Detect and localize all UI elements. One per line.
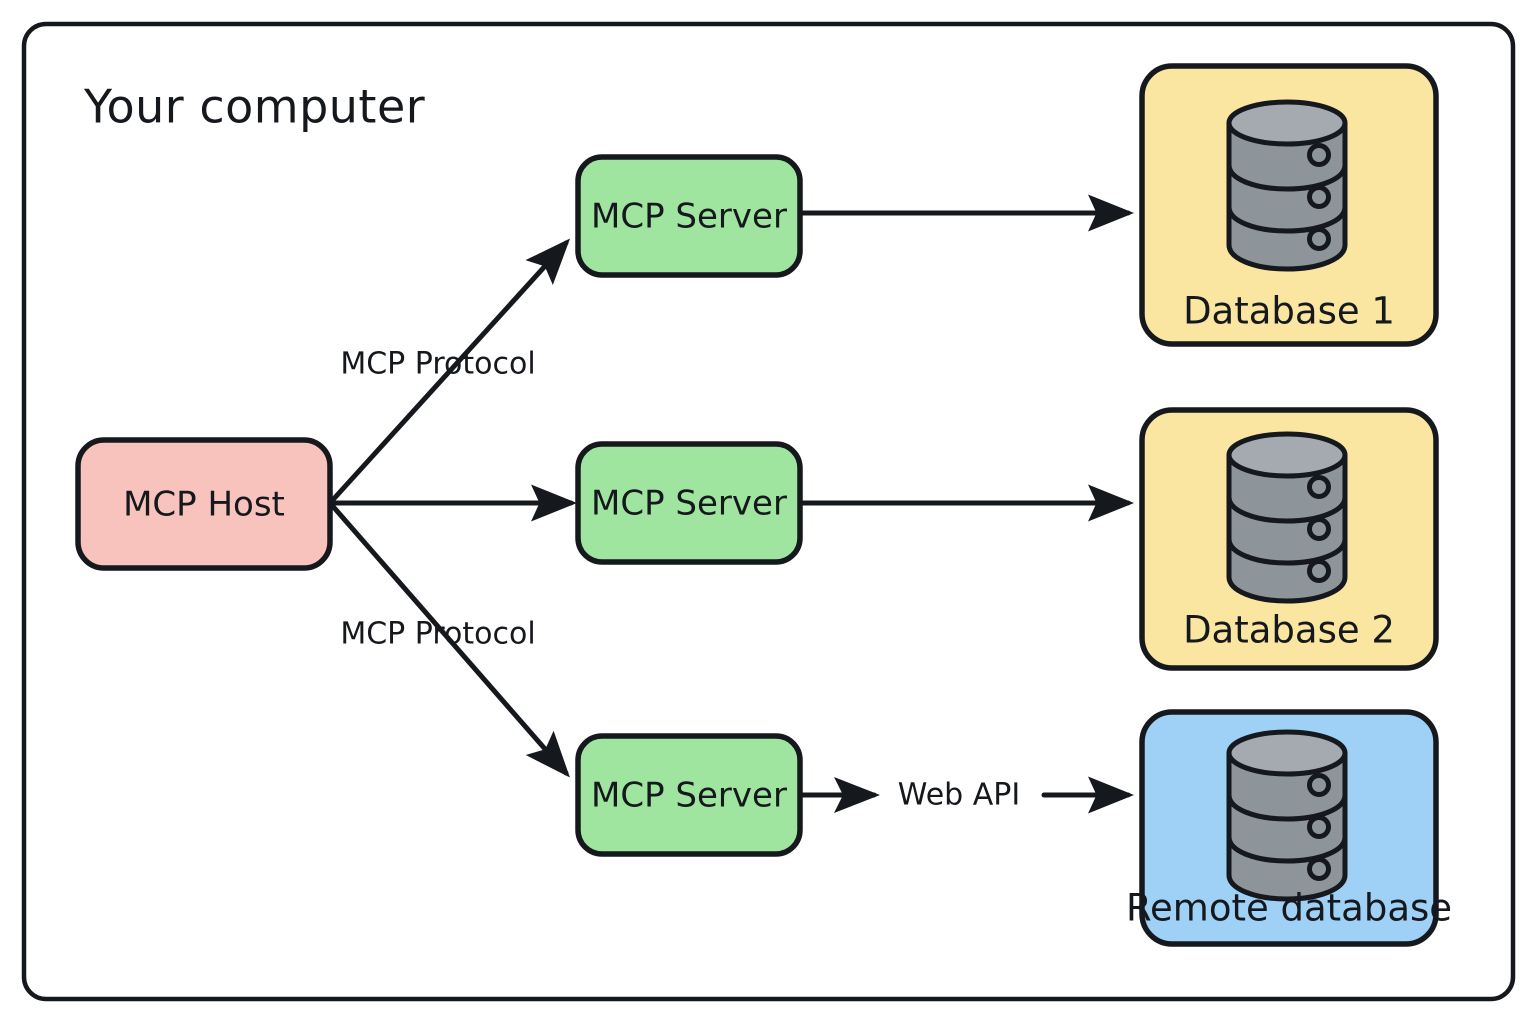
- node-label-database-1: Database 1: [1183, 290, 1395, 333]
- edge-label-mcp-protocol-lower: MCP Protocol: [340, 617, 535, 652]
- node-label-remote-database: Remote database: [1126, 887, 1452, 930]
- node-label-mcp-server-3: MCP Server: [591, 776, 787, 816]
- node-mcp-server-2[interactable]: MCP Server: [578, 444, 800, 562]
- edge-label-mcp-protocol-upper: MCP Protocol: [340, 347, 535, 382]
- node-mcp-server-3[interactable]: MCP Server: [578, 736, 800, 854]
- node-mcp-host[interactable]: MCP Host: [78, 440, 330, 568]
- node-label-mcp-host: MCP Host: [123, 485, 285, 525]
- node-database-1[interactable]: Database 1: [1142, 66, 1436, 344]
- node-database-2[interactable]: Database 2: [1142, 410, 1436, 668]
- node-mcp-server-1[interactable]: MCP Server: [578, 157, 800, 275]
- mcp-architecture-diagram: Your computer MCP Protocol MCP Protocol …: [0, 0, 1536, 1024]
- database-cylinder-icon: [1229, 434, 1345, 601]
- node-remote-database[interactable]: Remote database: [1126, 712, 1452, 944]
- edge-label-web-api: Web API: [898, 778, 1020, 813]
- diagram-canvas: Your computer MCP Protocol MCP Protocol …: [0, 0, 1536, 1024]
- node-label-mcp-server-1: MCP Server: [591, 197, 787, 237]
- database-cylinder-icon: [1229, 102, 1345, 269]
- frame-title: Your computer: [83, 80, 425, 134]
- node-label-mcp-server-2: MCP Server: [591, 484, 787, 524]
- database-cylinder-icon: [1229, 732, 1345, 899]
- node-label-database-2: Database 2: [1183, 609, 1395, 652]
